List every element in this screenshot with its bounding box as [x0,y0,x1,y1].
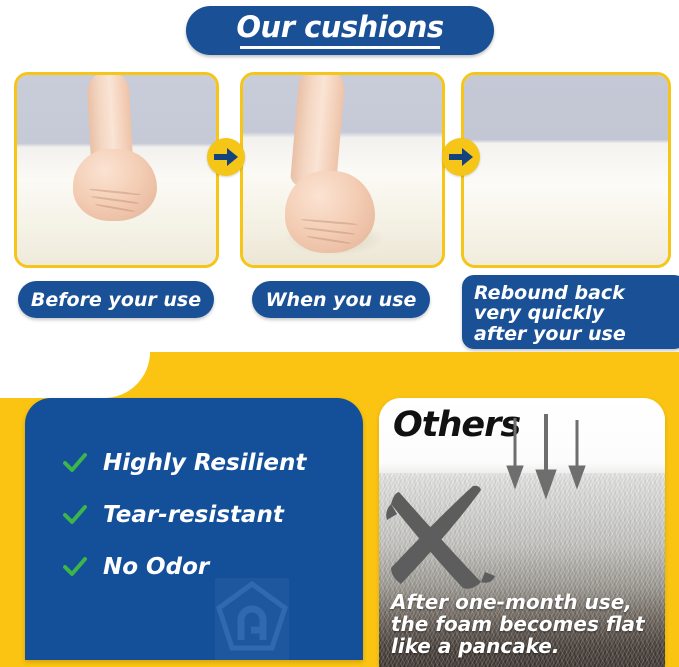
step-photo-before [14,72,219,268]
check-icon [63,557,87,577]
others-caption: After one-month use, the foam becomes fl… [391,591,657,657]
step-caption-after: Rebound back very quickly after your use [462,275,679,349]
title-underline [240,46,440,49]
step-photo-during [240,72,445,268]
fist-shape [73,149,157,221]
step-caption-before: Before your use [18,281,214,318]
step-caption-line: Rebound back [474,283,626,303]
cushion-photo-after [464,75,668,265]
feature-label: Highly Resilient [103,450,306,476]
feature-item-no-odor: No Odor [63,554,209,580]
brand-pentagon-logo-icon [215,578,289,660]
others-caption-line: the foam becomes flat [391,613,657,635]
feature-label: No Odor [103,554,209,580]
arrow-right-icon-1 [207,138,245,176]
step-photo-after [461,72,671,268]
step-caption-text: Before your use [31,289,201,311]
others-title: Others [393,408,520,443]
step-caption-line: after your use [474,324,626,344]
step-caption-line: very quickly [474,303,626,323]
others-caption-line: After one-month use, [391,591,657,613]
features-card: Highly Resilient Tear-resistant No Odor [25,398,363,660]
white-notch-decoration [0,352,150,398]
feature-item-tear-resistant: Tear-resistant [63,502,284,528]
step-caption-during: When you use [252,281,430,318]
x-mark-icon [385,484,501,594]
title-banner: Our cushions [186,6,494,55]
check-icon [63,505,87,525]
page-title: Our cushions [230,13,449,43]
feature-label: Tear-resistant [103,502,284,528]
feature-item-highly-resilient: Highly Resilient [63,450,306,476]
arrow-down-icon-group [505,412,589,504]
step-caption-text: When you use [266,289,417,311]
check-icon [63,453,87,473]
others-caption-line: like a pancake. [391,635,657,657]
others-comparison-card: Others After one-month use, the foam bec… [379,398,665,667]
arrow-right-icon-2 [442,138,480,176]
